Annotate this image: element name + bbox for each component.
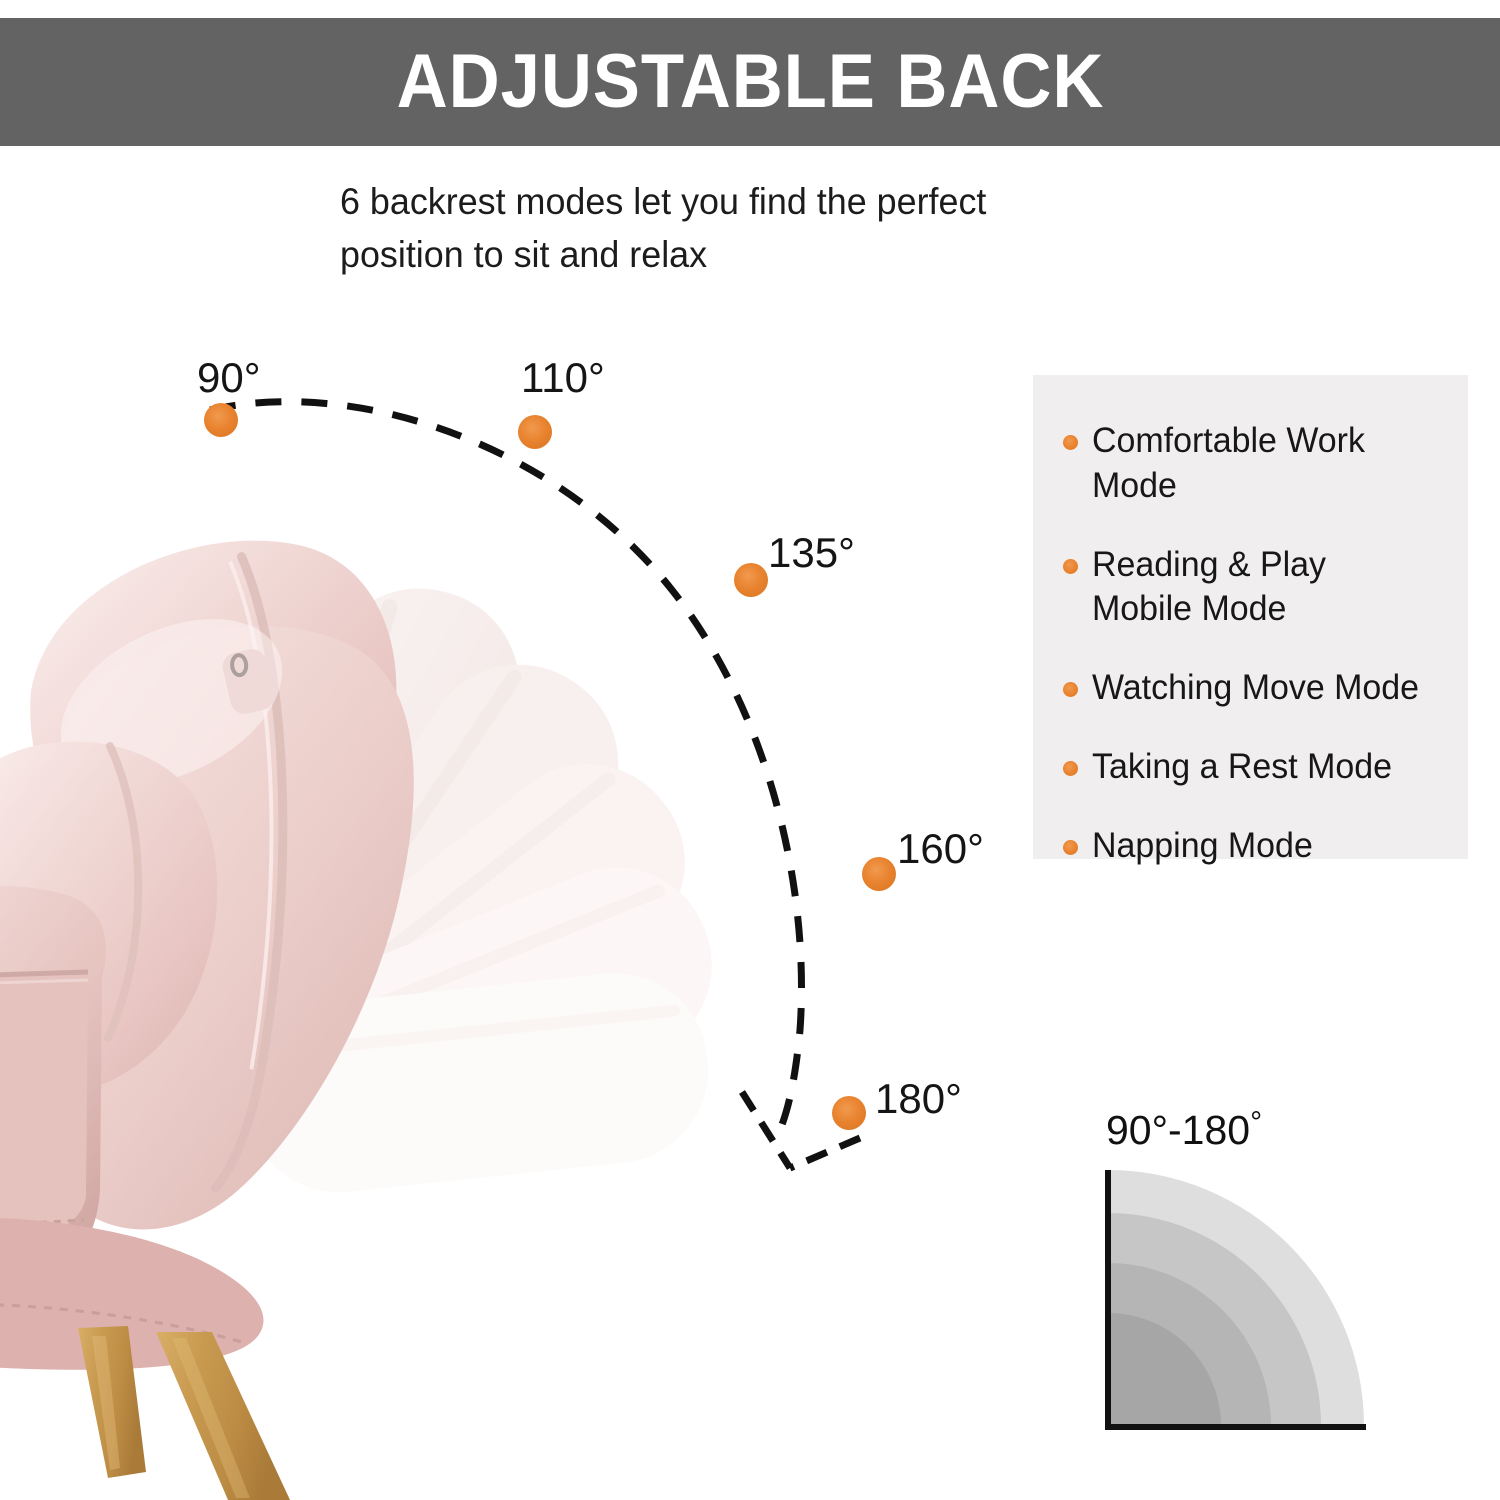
- feature-label-napping-mode: Napping Mode: [1092, 824, 1313, 869]
- angle-dot-135: [734, 563, 768, 597]
- feature-label-work-mode: Comfortable Work Mode: [1092, 419, 1439, 509]
- page-title: ADJUSTABLE BACK: [396, 44, 1104, 120]
- infographic-canvas: ADJUSTABLE BACK 6 backrest modes let you…: [0, 0, 1500, 1500]
- angle-range-title: 90°-180°: [1106, 1108, 1262, 1151]
- angle-dot-160: [862, 857, 896, 891]
- chair-legs: [78, 1326, 290, 1500]
- feature-label-reading-mode: Reading & Play Mobile Mode: [1092, 543, 1326, 633]
- recline-angle-arc: [0, 330, 1020, 1230]
- feature-label-watching-mode: Watching Move Mode: [1092, 666, 1419, 711]
- angle-label-135: 135°: [768, 532, 855, 574]
- angle-dot-180: [832, 1096, 866, 1130]
- angle-dot-90: [204, 403, 238, 437]
- arc-dashed-path: [210, 402, 801, 1130]
- angle-label-180: 180°: [875, 1078, 962, 1120]
- list-item: Comfortable Work Mode: [1063, 419, 1450, 509]
- list-item: Watching Move Mode: [1063, 666, 1450, 711]
- list-item: Napping Mode: [1063, 824, 1450, 869]
- angle-range-title-main: 90°-180: [1106, 1107, 1250, 1153]
- angle-range-diagram: 90°-180°: [1088, 1108, 1388, 1438]
- angle-label-160: 160°: [897, 828, 984, 870]
- bullet-icon: [1063, 435, 1078, 450]
- list-item: Reading & Play Mobile Mode: [1063, 543, 1450, 633]
- bullet-icon: [1063, 840, 1078, 855]
- bullet-icon: [1063, 761, 1078, 776]
- feature-label-rest-mode: Taking a Rest Mode: [1092, 745, 1392, 790]
- header-bar: ADJUSTABLE BACK: [0, 18, 1500, 146]
- bullet-icon: [1063, 682, 1078, 697]
- angle-dot-110: [518, 415, 552, 449]
- bullet-icon: [1063, 559, 1078, 574]
- subtitle-line-2: position to sit and relax: [340, 229, 1213, 282]
- quarter-circle-bands: [1088, 1170, 1388, 1438]
- subtitle: 6 backrest modes let you find the perfec…: [340, 176, 1213, 281]
- features-panel: Comfortable Work Mode Reading & Play Mob…: [1033, 375, 1468, 859]
- angle-label-90: 90°: [197, 357, 261, 399]
- angle-range-title-degree: °: [1250, 1106, 1262, 1139]
- angle-label-110: 110°: [521, 357, 605, 399]
- subtitle-line-1: 6 backrest modes let you find the perfec…: [340, 176, 1213, 229]
- list-item: Taking a Rest Mode: [1063, 745, 1450, 790]
